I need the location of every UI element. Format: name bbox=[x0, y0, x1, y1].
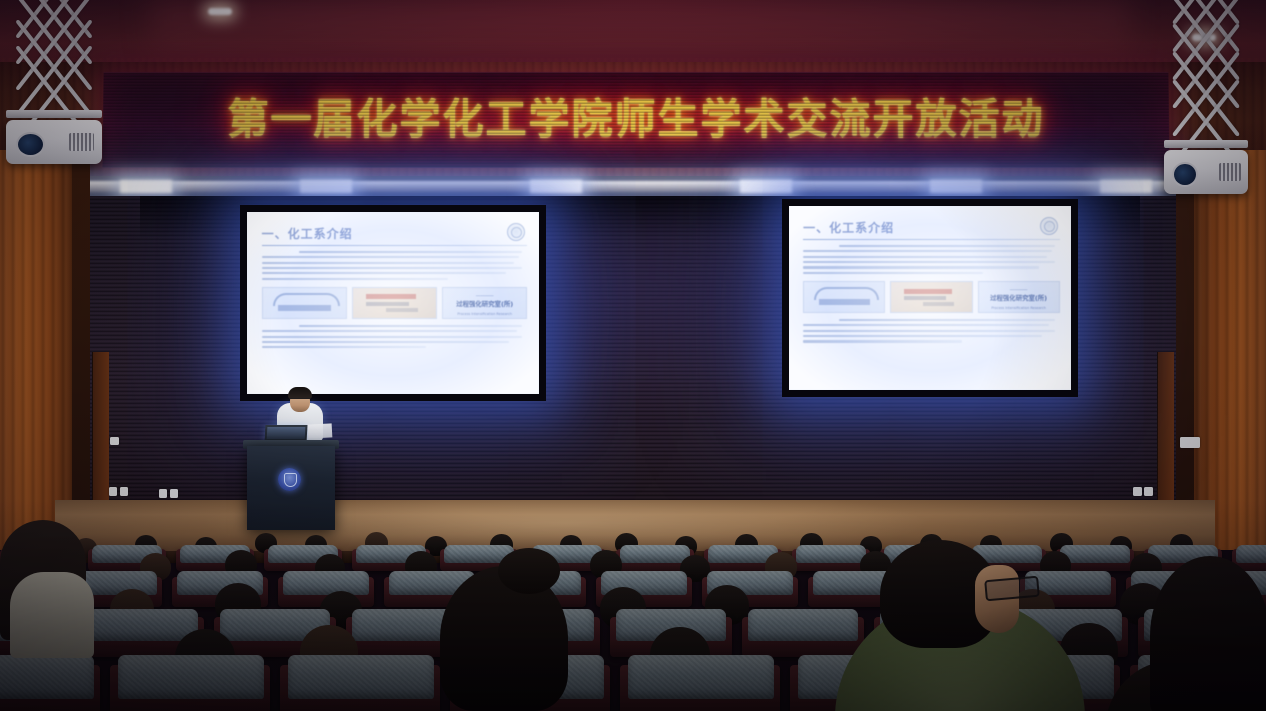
light-segment bbox=[930, 180, 982, 193]
laptop-screen bbox=[267, 427, 306, 439]
foreground-person-center-hairbun bbox=[498, 548, 560, 594]
slide-divider bbox=[262, 245, 528, 246]
light-segment bbox=[300, 180, 352, 193]
projector-vents bbox=[69, 133, 94, 151]
speaker-glasses-icon bbox=[290, 398, 310, 403]
slide-image-arched-plaque bbox=[262, 287, 347, 319]
plaque-label-cn: 过程强化研究室(所) bbox=[985, 295, 1052, 302]
slide-image-lab-plaque: ―――― 过程强化研究室(所) Process Intensification … bbox=[978, 281, 1060, 313]
slide-image-lab-plaque: ―――― 过程强化研究室(所) Process Intensification … bbox=[442, 287, 527, 319]
projector-body-left bbox=[6, 120, 102, 164]
right-panel-edge bbox=[1176, 150, 1194, 550]
slide-right: 一、化工系介绍 bbox=[789, 206, 1071, 390]
plaque-label-en: Process Intensification Research bbox=[450, 311, 520, 318]
ceiling-projector-left bbox=[6, 0, 102, 154]
light-segment bbox=[1100, 180, 1152, 193]
plaque-header: ―――― bbox=[985, 287, 1052, 294]
slide-title-right: 一、化工系介绍 bbox=[803, 219, 1060, 236]
wall-outlet bbox=[1133, 487, 1142, 496]
slide-title-left: 一、化工系介绍 bbox=[262, 225, 528, 242]
wall-outlet-double bbox=[1180, 437, 1200, 448]
slide-footer-right bbox=[803, 319, 1060, 343]
university-seal-icon bbox=[507, 223, 525, 241]
podium-papers bbox=[308, 423, 333, 438]
ceiling-projector-right bbox=[1164, 0, 1248, 176]
projection-screen-right: 一、化工系介绍 bbox=[782, 199, 1078, 397]
light-segment bbox=[740, 180, 792, 193]
screen-surface-left: 一、化工系介绍 bbox=[247, 212, 539, 394]
left-wood-panel bbox=[0, 150, 72, 550]
foreground-person-left-shirt bbox=[10, 572, 94, 658]
slide-paragraph-right bbox=[803, 245, 1060, 274]
light-segment bbox=[120, 180, 172, 193]
wall-switch[interactable] bbox=[110, 437, 119, 445]
university-seal-icon bbox=[1040, 217, 1058, 235]
light-segment bbox=[530, 180, 582, 193]
led-banner-text: 第一届化学化工学院师生学术交流开放活动 bbox=[103, 89, 1170, 149]
wall-outlet bbox=[170, 489, 178, 498]
ceiling-lamp-icon bbox=[208, 8, 232, 15]
slide-left: 一、化工系介绍 bbox=[247, 212, 539, 394]
projector-mount-plate bbox=[6, 110, 102, 118]
projector-body-right bbox=[1164, 150, 1248, 194]
projection-screen-left: 一、化工系介绍 bbox=[240, 205, 546, 401]
stage-door-left[interactable] bbox=[92, 352, 109, 502]
foreground-person-right-head bbox=[1150, 556, 1266, 711]
fluorescent-light-strip bbox=[80, 181, 1191, 192]
slide-image-certificate bbox=[352, 287, 437, 319]
projector-lens-icon bbox=[1172, 162, 1198, 187]
projector-vents bbox=[1219, 163, 1241, 181]
slide-image-arched-plaque bbox=[803, 281, 885, 313]
wall-outlet bbox=[159, 489, 167, 498]
plaque-label-cn: 过程强化研究室(所) bbox=[450, 301, 520, 308]
plaque-header: ―――― bbox=[450, 293, 520, 300]
wall-outlet bbox=[1144, 487, 1153, 496]
stage-door-right[interactable] bbox=[1157, 352, 1174, 502]
projector-lens-icon bbox=[16, 132, 45, 157]
right-wood-panel bbox=[1194, 150, 1266, 550]
slide-divider bbox=[803, 239, 1060, 240]
slide-paragraph-left bbox=[262, 251, 528, 280]
university-crest-icon bbox=[278, 468, 301, 491]
plaque-label-en: Process Intensification Research bbox=[985, 305, 1052, 312]
led-banner-panel: 第一届化学化工学院师生学术交流开放活动 bbox=[102, 72, 1169, 168]
screen-surface-right: 一、化工系介绍 bbox=[789, 206, 1071, 390]
left-panel-edge bbox=[72, 150, 90, 550]
projector-mount-plate bbox=[1164, 140, 1248, 148]
slide-images-left: ―――― 过程强化研究室(所) Process Intensification … bbox=[262, 287, 528, 319]
slide-images-right: ―――― 过程强化研究室(所) Process Intensification … bbox=[803, 281, 1060, 313]
slide-image-certificate bbox=[890, 281, 972, 313]
wall-outlet bbox=[120, 487, 128, 496]
auditorium-photo: 第一届化学化工学院师生学术交流开放活动 一、化工系介绍 bbox=[0, 0, 1266, 711]
wall-outlet bbox=[109, 487, 117, 496]
slide-footer-left bbox=[262, 325, 528, 349]
